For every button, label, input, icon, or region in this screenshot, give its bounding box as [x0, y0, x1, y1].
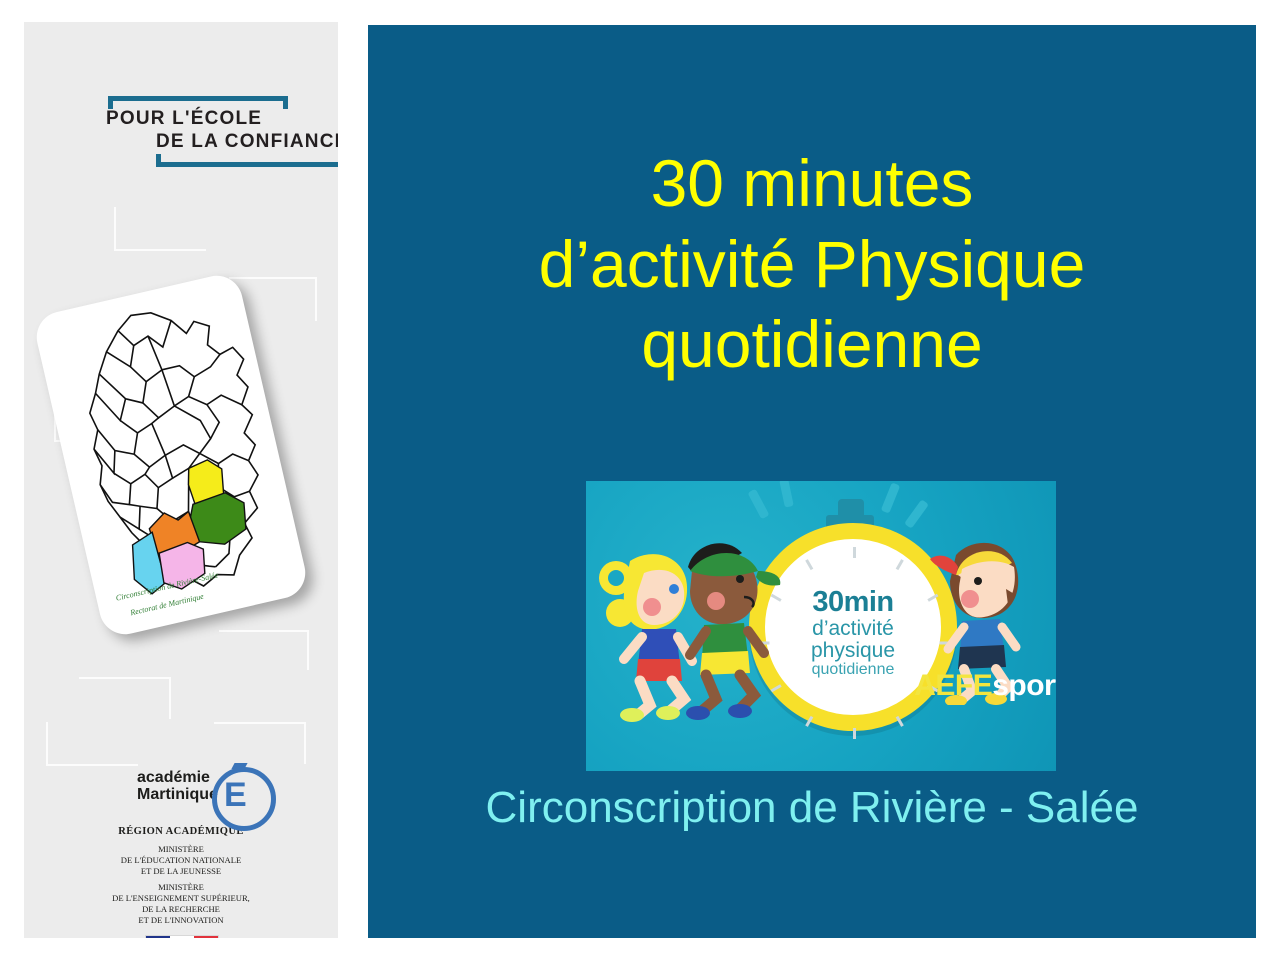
logo-bottom-rule: [156, 162, 338, 167]
ministry1-line-3: ET DE LA JEUNESSE: [24, 866, 338, 877]
french-flag-icon: [145, 935, 219, 938]
slide-title: 30 minutes d’activité Physique quotidien…: [408, 143, 1216, 385]
flag-band-red: [194, 936, 218, 938]
bracket-watermark-icon: [214, 722, 306, 764]
stopwatch-line-2: d’activité: [765, 618, 941, 640]
academy-ministry-logo-block: académie Martinique E RÉGION ACADÉMIQUE …: [24, 766, 338, 938]
title-line-2: d’activité Physique: [408, 224, 1216, 305]
logo-top-cap-right: [283, 96, 288, 109]
hashtag-suffix: sport: [992, 669, 1059, 702]
academie-word-1: académie: [137, 770, 209, 787]
pour-lecole-de-la-confiance-logo: POUR L'ÉCOLE DE LA CONFIANCE: [68, 78, 318, 178]
slide-root: POUR L'ÉCOLE DE LA CONFIANCE: [0, 0, 1280, 960]
bracket-watermark-icon: [79, 677, 171, 719]
main-blue-panel: 30 minutes d’activité Physique quotidien…: [368, 25, 1256, 938]
bracket-watermark-icon: [46, 722, 138, 766]
logo-bottom-cap-left: [156, 154, 161, 167]
title-line-3: quotidienne: [408, 304, 1216, 385]
french-republic-logo: Liberté · Égalité · Fraternité RÉPUBLIQU…: [24, 935, 338, 938]
title-line-1: 30 minutes: [408, 143, 1216, 224]
ministry-education-block: MINISTÈRE DE L'ÉDUCATION NATIONALE ET DE…: [24, 844, 338, 877]
dial-tick: [805, 559, 813, 570]
bracket-watermark-icon: [114, 207, 206, 251]
dial-tick: [896, 559, 904, 570]
ministry2-line-3: DE LA RECHERCHE: [24, 904, 338, 915]
academie-letter-e: E: [224, 778, 247, 812]
flag-band-blue: [146, 936, 170, 938]
bracket-watermark-icon: [219, 630, 309, 670]
logo-top-rule: [108, 96, 288, 101]
flag-band-white: [170, 936, 194, 938]
academie-martinique-logo: académie Martinique E: [24, 766, 338, 824]
slide-subtitle: Circonscription de Rivière - Salée: [388, 783, 1236, 833]
child-runner-greencap-icon: [668, 527, 788, 723]
dial-tick: [853, 728, 856, 739]
ministry2-line-4: ET DE L'INNOVATION: [24, 915, 338, 926]
confiance-line-2: DE LA CONFIANCE: [156, 131, 338, 153]
aefe-sport-illustration: 30min d’activité physique quotidienne: [583, 478, 1059, 774]
hashtag-symbol: #: [898, 669, 914, 702]
dial-tick: [853, 547, 856, 558]
confiance-line-1: POUR L'ÉCOLE: [106, 108, 262, 130]
ministry-research-block: MINISTÈRE DE L'ENSEIGNEMENT SUPÉRIEUR, D…: [24, 882, 338, 926]
aefe-sport-hashtag: #AEFEsport: [898, 669, 1059, 703]
hashtag-brand: AEFE: [914, 669, 992, 702]
stopwatch-line-3: physique: [765, 640, 941, 662]
academie-word-2: Martinique: [137, 787, 209, 804]
ministry2-line-2: DE L'ENSEIGNEMENT SUPÉRIEUR,: [24, 893, 338, 904]
ministry2-line-1: MINISTÈRE: [24, 882, 338, 893]
ministry1-line-2: DE L'ÉDUCATION NATIONALE: [24, 855, 338, 866]
academie-wordmark: académie Martinique: [137, 770, 209, 804]
ministry1-line-1: MINISTÈRE: [24, 844, 338, 855]
left-sidebar-panel: POUR L'ÉCOLE DE LA CONFIANCE: [24, 22, 338, 938]
stopwatch-text: 30min d’activité physique quotidienne: [765, 587, 941, 679]
stopwatch-line-1: 30min: [765, 587, 941, 618]
region-academique-label: RÉGION ACADÉMIQUE: [24, 826, 338, 837]
